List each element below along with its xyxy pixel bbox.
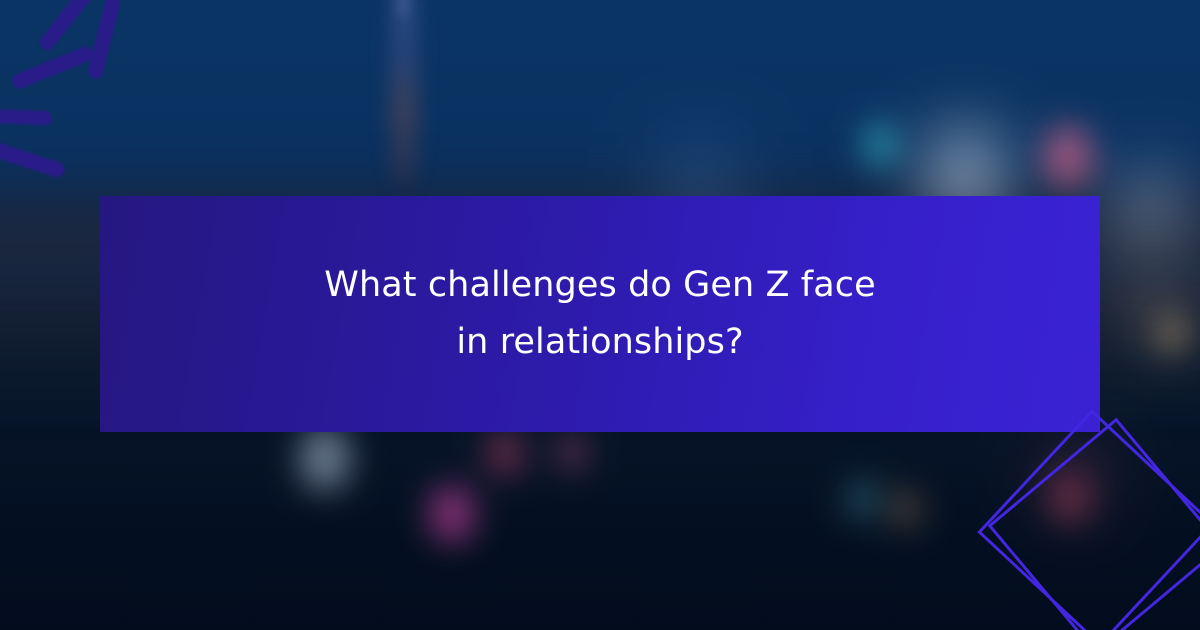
deep-red-blur: [1047, 442, 1103, 512]
og-card-canvas: What challenges do Gen Z face in relatio…: [0, 0, 1200, 630]
white-right-light: [1121, 171, 1179, 244]
gold-reflection: [889, 489, 921, 529]
crimson-reflection: [486, 429, 524, 477]
gold-strip-light: [1157, 315, 1187, 353]
magenta-reflection: [429, 485, 475, 543]
tower-antenna: [400, 0, 406, 14]
teal-reflection: [845, 478, 879, 521]
title-banner: What challenges do Gen Z face in relatio…: [100, 196, 1100, 432]
page-title: What challenges do Gen Z face in relatio…: [300, 257, 900, 370]
tower-silhouette: [392, 0, 416, 185]
pink-reflection: [557, 433, 587, 471]
red-sign-light: [1042, 124, 1094, 189]
teal-light: [863, 123, 897, 166]
white-reflection: [299, 426, 351, 491]
